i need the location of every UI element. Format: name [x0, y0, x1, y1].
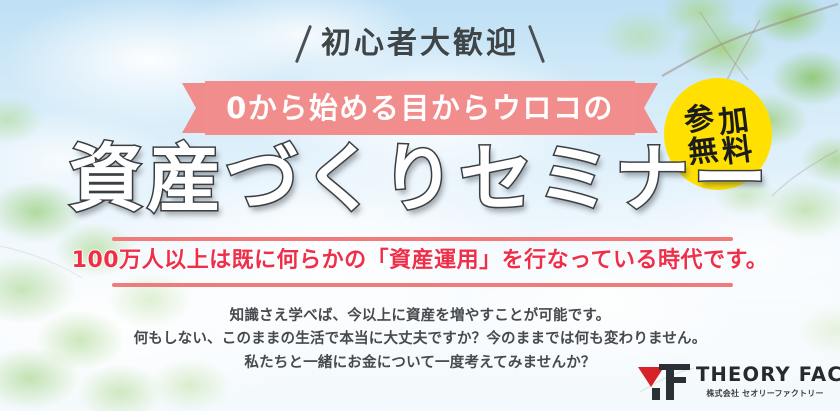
- lead-statement: 100万人以上は既に何らかの「資産運用」を行なっている時代です。: [0, 248, 840, 274]
- slash-left-icon: [295, 25, 312, 63]
- ribbon-bar: 0から始める目からウロコの: [205, 81, 635, 135]
- catch-copy-text: 初心者大歓迎: [321, 29, 519, 59]
- ribbon-text: 0から始める目からウロコの: [226, 94, 614, 123]
- body-copy-line-2: 何もしない、このままの生活で本当に大丈夫ですか？今のままでは何も変わりません。: [0, 328, 840, 351]
- lead-rule-bottom: [112, 283, 733, 287]
- catch-copy: 初心者大歓迎: [0, 24, 840, 64]
- body-copy-line-1: 知識さえ学べば、今以上に資産を増やすことが可能です。: [0, 305, 840, 328]
- slash-right-icon: [528, 25, 545, 63]
- page-title: 資産づくりセミナー: [0, 142, 840, 216]
- company-logo-name: THEORY FACTORY: [696, 365, 840, 385]
- theory-factory-mark-icon: [634, 362, 692, 402]
- lead-rule-top: [112, 237, 733, 241]
- ribbon-banner: 0から始める目からウロコの: [182, 83, 658, 133]
- company-logo-subtitle: 株式会社 セオリーファクトリー: [700, 390, 830, 398]
- company-logo: THEORY FACTORY 株式会社 セオリーファクトリー: [634, 361, 830, 405]
- ribbon-tail-right: [632, 83, 658, 133]
- seminar-banner: 初心者大歓迎 0から始める目からウロコの 参 加 無 料 資産づくりセミナー 1…: [0, 0, 840, 411]
